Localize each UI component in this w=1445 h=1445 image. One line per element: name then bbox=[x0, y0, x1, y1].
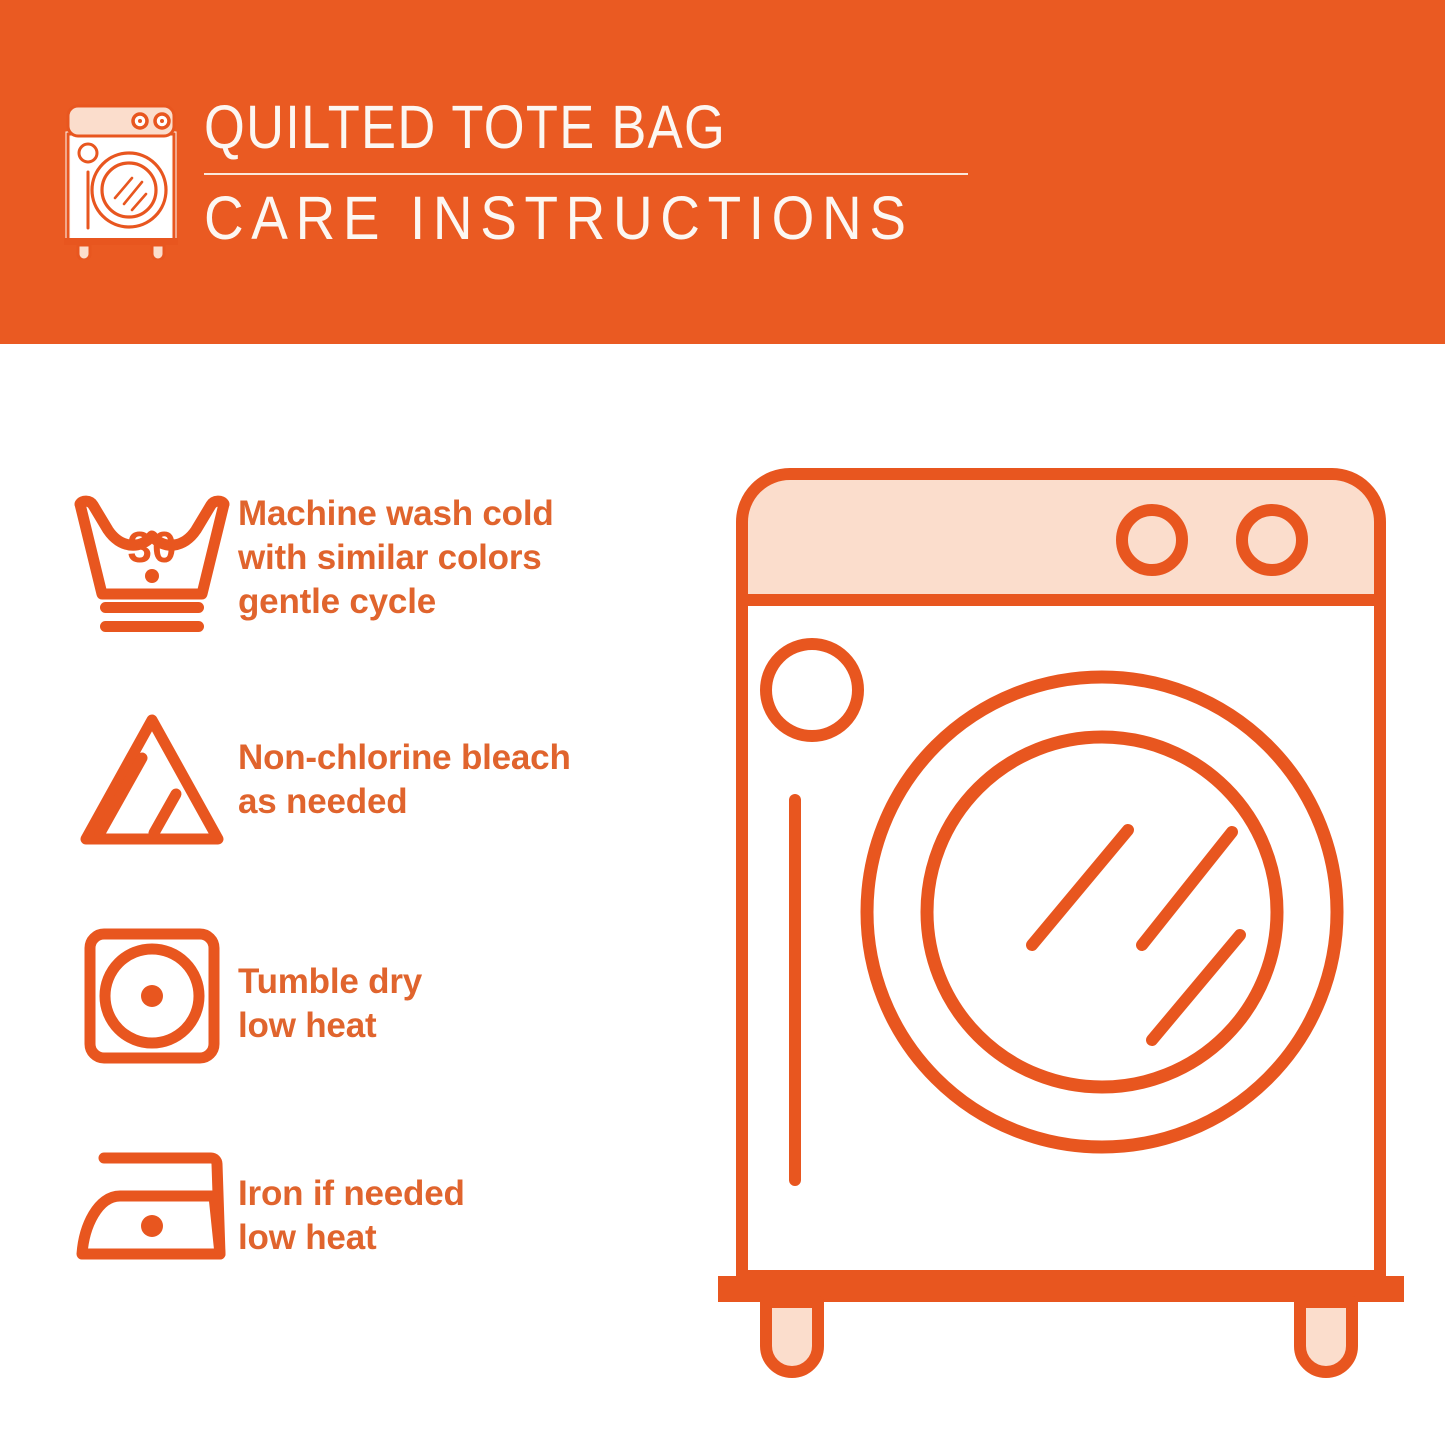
care-text-iron: Iron if needed low heat bbox=[238, 1144, 465, 1260]
washing-machine-illustration bbox=[700, 440, 1420, 1400]
care-line: with similar colors bbox=[238, 536, 554, 580]
care-line: gentle cycle bbox=[238, 580, 554, 624]
care-text-tumble-dry: Tumble dry low heat bbox=[238, 922, 422, 1048]
care-line: Iron if needed bbox=[238, 1172, 465, 1216]
washing-machine-icon bbox=[62, 100, 180, 260]
care-line: Machine wash cold bbox=[238, 492, 554, 536]
page-subtitle: CARE INSTRUCTIONS bbox=[204, 184, 914, 252]
wash-temp-value: 30 bbox=[128, 523, 177, 572]
knob-left[interactable] bbox=[1122, 510, 1182, 570]
iron-icon bbox=[68, 1144, 236, 1284]
title-divider bbox=[204, 173, 968, 175]
care-item-tumble-dry: Tumble dry low heat bbox=[68, 922, 688, 1072]
care-item-bleach: Non-chlorine bleach as needed bbox=[68, 706, 688, 856]
leg-left bbox=[766, 1302, 818, 1372]
care-line: Tumble dry bbox=[238, 960, 422, 1004]
wash-tub-icon: 30 bbox=[68, 490, 236, 642]
care-text-machine-wash: Machine wash cold with similar colors ge… bbox=[238, 490, 554, 624]
care-symbol-iron bbox=[68, 1144, 238, 1284]
care-item-machine-wash: 30 Machine wash cold with similar colors… bbox=[68, 490, 688, 642]
care-symbol-bleach bbox=[68, 706, 238, 856]
bleach-triangle-icon bbox=[68, 706, 236, 856]
header-content: QUILTED TOTE BAG CARE INSTRUCTIONS bbox=[62, 92, 992, 260]
page-title: QUILTED TOTE BAG bbox=[204, 94, 882, 160]
header-title-group: QUILTED TOTE BAG CARE INSTRUCTIONS bbox=[204, 94, 992, 252]
care-line: as needed bbox=[238, 780, 571, 824]
knob-right[interactable] bbox=[1242, 510, 1302, 570]
care-item-iron: Iron if needed low heat bbox=[68, 1144, 688, 1284]
care-instructions-list: 30 Machine wash cold with similar colors… bbox=[0, 344, 700, 1445]
leg-right bbox=[1300, 1302, 1352, 1372]
care-line: low heat bbox=[238, 1004, 422, 1048]
care-line: Non-chlorine bleach bbox=[238, 736, 571, 780]
tumble-dry-icon bbox=[68, 922, 236, 1072]
care-line: low heat bbox=[238, 1216, 465, 1260]
care-symbol-tumble-dry bbox=[68, 922, 238, 1072]
care-symbol-wash: 30 bbox=[68, 490, 238, 642]
header-banner: QUILTED TOTE BAG CARE INSTRUCTIONS bbox=[0, 0, 1445, 344]
care-text-bleach: Non-chlorine bleach as needed bbox=[238, 706, 571, 824]
